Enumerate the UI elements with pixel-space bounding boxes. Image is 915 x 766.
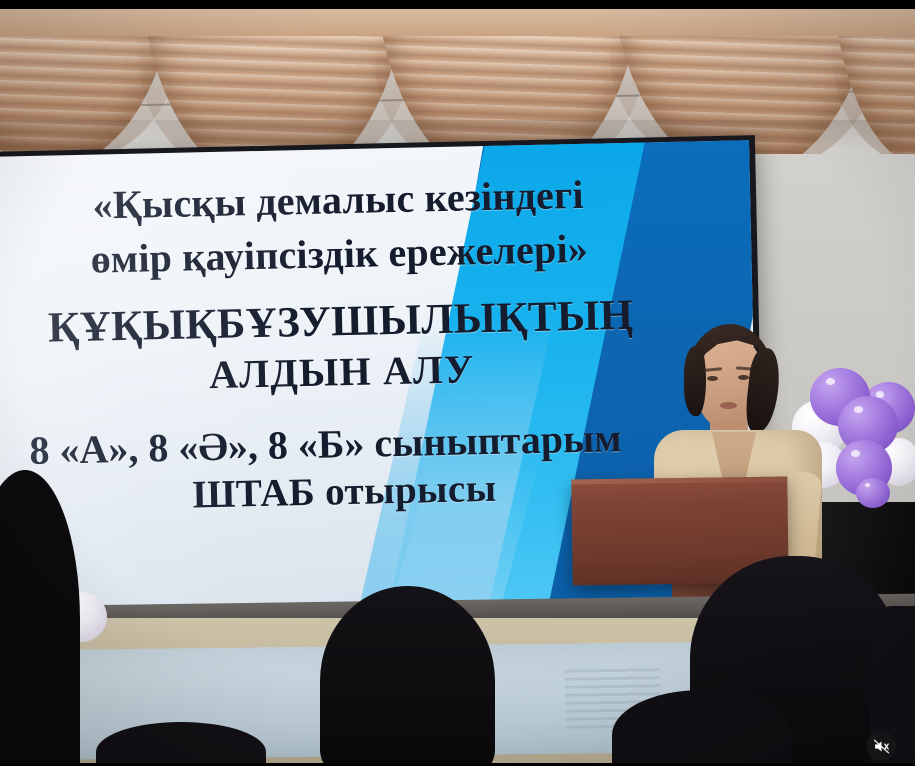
balloon-purple (856, 478, 890, 508)
curtain-rail (0, 8, 915, 36)
presenter-eye (738, 375, 749, 380)
mute-toggle-button[interactable] (866, 731, 896, 761)
slide-line-4: АЛДЫН АЛУ (0, 343, 692, 400)
speaker-muted-icon (873, 738, 890, 755)
presenter-hair-strand (684, 346, 706, 416)
video-frame: «Қысқы демалыс кезіндегі өмір қауіпсізді… (0, 0, 915, 766)
audience-silhouette (320, 586, 495, 766)
slide-line-2: өмір қауіпсіздік ережелері» (0, 225, 690, 282)
presenter-eye (707, 376, 718, 381)
slide-line-3: ҚҰҚЫҚБҰЗУШЫЛЫҚТЫҢ (0, 293, 691, 353)
slide-text-block: «Қысқы демалыс кезіндегі өмір қауіпсізді… (0, 172, 695, 521)
presenter-mouth (720, 402, 737, 409)
slide-line-1: «Қысқы демалыс кезіндегі (0, 172, 689, 229)
slide-line-5: 8 «А», 8 «Ә», 8 «Б» сыныптарым (0, 415, 694, 473)
letterbox-top (0, 0, 915, 9)
